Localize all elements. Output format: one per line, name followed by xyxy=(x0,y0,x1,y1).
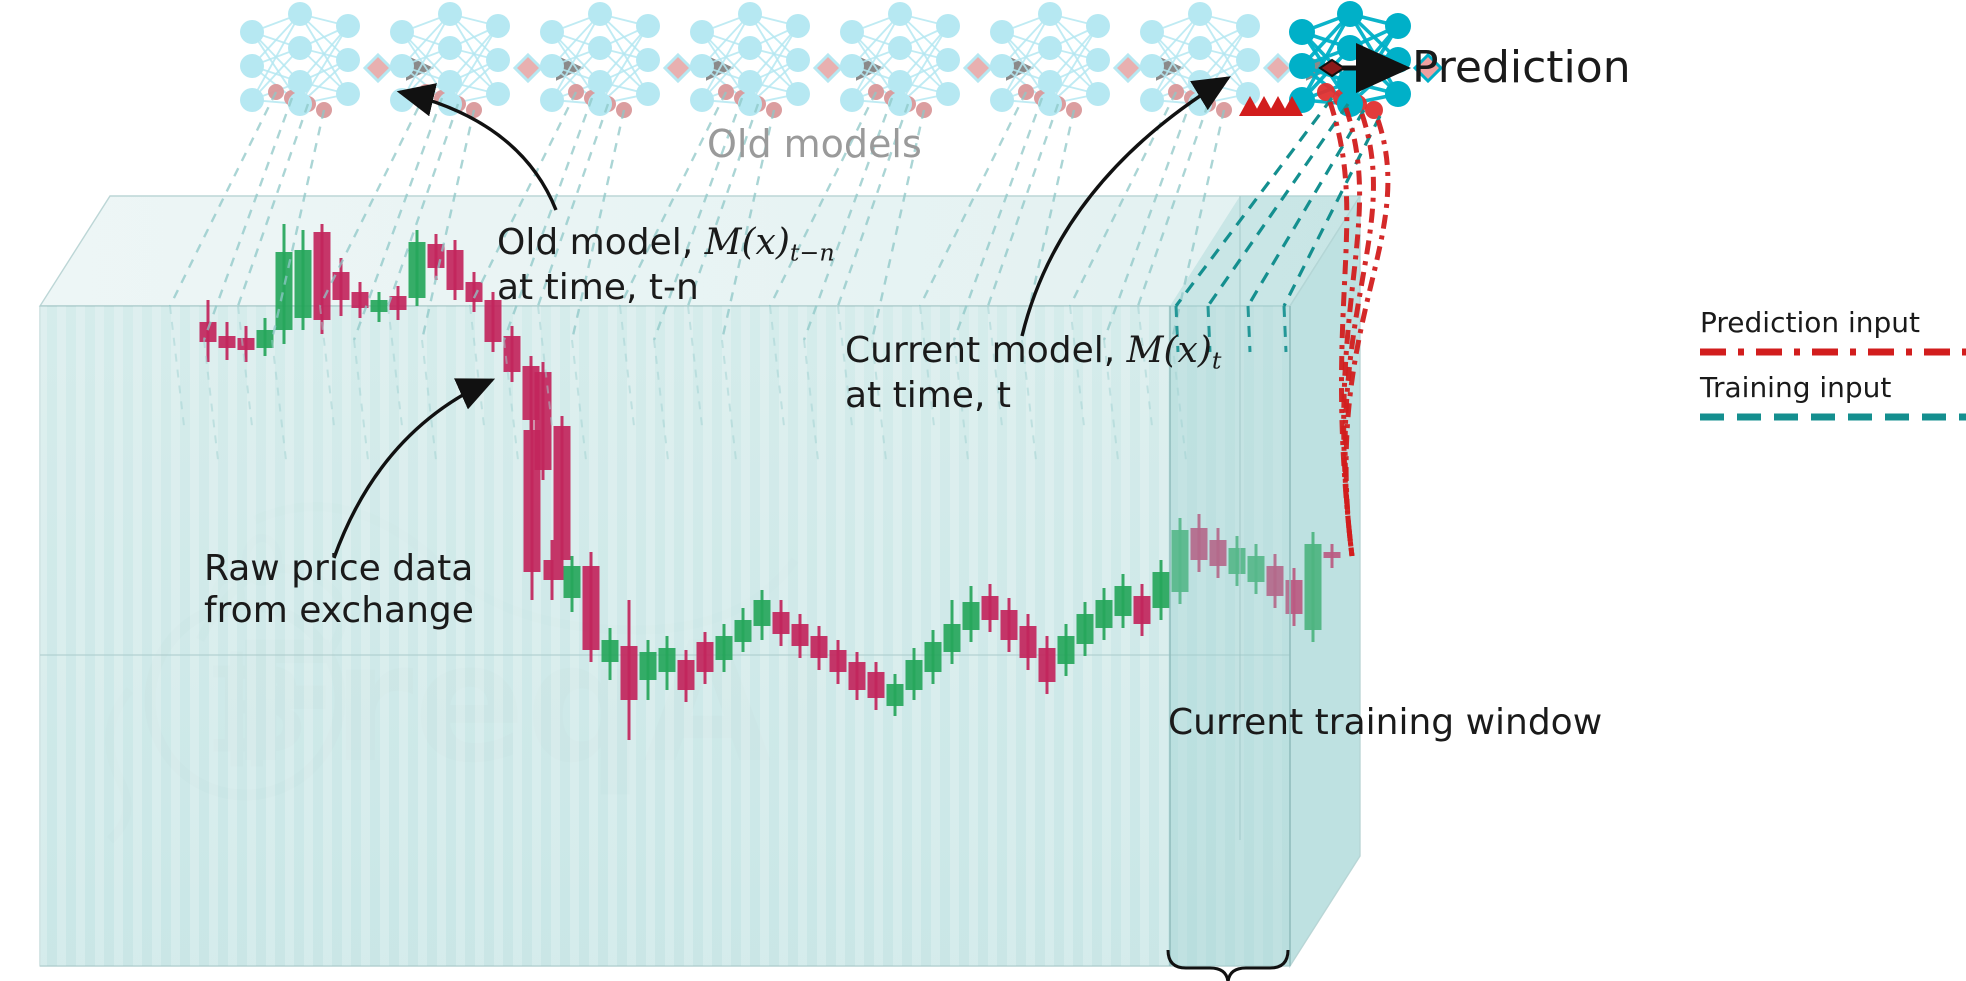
nn-node xyxy=(1038,70,1062,94)
nn-node xyxy=(1337,35,1363,61)
nn-node xyxy=(840,20,864,44)
neural-network-row xyxy=(240,1,1441,119)
nn-node xyxy=(1188,2,1212,26)
nn-node xyxy=(888,36,912,60)
annotation-current-model-line1: Current model, M(x)t xyxy=(845,330,1221,375)
nn-diamond-connector xyxy=(815,55,841,81)
nn-node xyxy=(1188,36,1212,60)
training-window-highlight xyxy=(1170,196,1360,966)
candle-body xyxy=(640,652,657,680)
nn-node xyxy=(1289,53,1315,79)
candle-body xyxy=(524,430,541,572)
candle-body xyxy=(371,300,388,312)
nn-node xyxy=(840,88,864,112)
old-models-label: Old models xyxy=(707,122,922,166)
candle-body xyxy=(659,648,676,672)
nn-node xyxy=(690,20,714,44)
legend-label-prediction-input: Prediction input xyxy=(1700,306,1920,339)
nn-node xyxy=(1038,2,1062,26)
candle-body xyxy=(1058,636,1075,664)
candle-body xyxy=(621,646,638,700)
candle-body xyxy=(849,662,866,690)
nn-node xyxy=(1289,19,1315,45)
nn-node xyxy=(540,20,564,44)
nn-node xyxy=(786,14,810,38)
nn-node xyxy=(1385,13,1411,39)
candle-body xyxy=(504,336,521,372)
annotation-old-model-prefix: Old model, xyxy=(497,222,705,263)
nn-node xyxy=(288,36,312,60)
candle-body xyxy=(602,640,619,662)
candle-body xyxy=(314,232,331,320)
candle-body xyxy=(678,660,695,690)
nn-diamond-connector xyxy=(515,55,541,81)
nn-node xyxy=(1140,20,1164,44)
nn-node xyxy=(636,82,660,106)
nn-node xyxy=(336,48,360,72)
candle-body xyxy=(868,672,885,698)
nn-node xyxy=(636,48,660,72)
candle-body xyxy=(1096,600,1113,628)
annotation-current-model-prefix: Current model, xyxy=(845,330,1127,371)
candle-body xyxy=(447,250,464,290)
nn-node xyxy=(990,54,1014,78)
annotation-current-model-math: M(x) xyxy=(1127,330,1212,371)
candle-body xyxy=(200,322,217,342)
annotation-raw-price-line2: from exchange xyxy=(204,590,474,632)
diagram-root: FreqAI ₿ xyxy=(0,0,1966,981)
nn-node xyxy=(540,88,564,112)
nn-node xyxy=(690,88,714,112)
nn-node xyxy=(588,92,612,116)
nn-node xyxy=(1140,54,1164,78)
nn-node xyxy=(1337,1,1363,27)
nn-node xyxy=(738,70,762,94)
candle-body xyxy=(257,330,274,348)
candle-body xyxy=(697,642,714,672)
candle-body xyxy=(963,602,980,630)
nn-node xyxy=(288,2,312,26)
candle-body xyxy=(564,566,581,598)
nn-node xyxy=(888,92,912,116)
annotation-old-model-line1: Old model, M(x)t−n xyxy=(497,222,835,267)
nn-node xyxy=(690,54,714,78)
annotation-old-model: Old model, M(x)t−n at time, t-n xyxy=(497,222,835,309)
nn-node xyxy=(1086,48,1110,72)
candle-body xyxy=(295,250,312,318)
nn-diamond-connector xyxy=(1115,55,1141,81)
nn-node xyxy=(1038,92,1062,116)
nn-node xyxy=(1038,36,1062,60)
candle-body xyxy=(390,296,407,310)
candle-body xyxy=(792,624,809,646)
nn-node xyxy=(738,92,762,116)
nn-node xyxy=(936,14,960,38)
candle-body xyxy=(219,336,236,348)
candle-body xyxy=(754,600,771,626)
prediction-label: Prediction xyxy=(1412,42,1631,93)
nn-diamond-connector xyxy=(665,55,691,81)
nn-diamond-connector xyxy=(1265,55,1291,81)
nn-node xyxy=(1236,14,1260,38)
candle-body xyxy=(554,426,571,560)
candle-body xyxy=(1153,572,1170,608)
candle-body xyxy=(238,338,255,350)
nn-node xyxy=(738,2,762,26)
nn-node xyxy=(486,82,510,106)
nn-node xyxy=(936,82,960,106)
nn-node xyxy=(1086,14,1110,38)
nn-node xyxy=(390,20,414,44)
nn-node xyxy=(588,2,612,26)
nn-node xyxy=(588,36,612,60)
annotation-old-model-math: M(x) xyxy=(705,222,790,263)
candle-body xyxy=(944,624,961,652)
nn-node xyxy=(390,54,414,78)
nn-node xyxy=(936,48,960,72)
nn-node xyxy=(840,54,864,78)
candle-body xyxy=(544,560,561,580)
candle-body xyxy=(773,612,790,634)
candle-body xyxy=(982,596,999,620)
nn-node xyxy=(1385,81,1411,107)
candle-body xyxy=(409,242,426,298)
nn-node xyxy=(438,36,462,60)
nn-node xyxy=(240,20,264,44)
nn-node xyxy=(240,88,264,112)
candle-body xyxy=(1077,614,1094,644)
candle-body xyxy=(583,566,600,650)
nn-diamond-connector xyxy=(365,55,391,81)
nn-node xyxy=(486,48,510,72)
nn-node xyxy=(438,70,462,94)
nn-node xyxy=(1140,88,1164,112)
candle-body xyxy=(1115,586,1132,616)
annotation-raw-price-line1: Raw price data xyxy=(204,548,474,590)
candle-body xyxy=(1039,648,1056,682)
candle-body xyxy=(1020,626,1037,658)
candle-body xyxy=(466,282,483,302)
nn-diamond-connector xyxy=(965,55,991,81)
candle-body xyxy=(925,642,942,672)
diagram-canvas: FreqAI ₿ xyxy=(0,0,1966,981)
candle-body xyxy=(906,660,923,690)
candle-body xyxy=(811,636,828,658)
nn-node xyxy=(336,14,360,38)
candle-body xyxy=(887,684,904,706)
training-window-label: Current training window xyxy=(1168,702,1602,743)
annotation-old-model-line2: at time, t-n xyxy=(497,267,835,309)
nn-node xyxy=(240,54,264,78)
nn-node xyxy=(1086,82,1110,106)
nn-node xyxy=(786,82,810,106)
annotation-old-model-subscript: t−n xyxy=(790,239,835,267)
annotation-current-model-subscript: t xyxy=(1212,347,1222,375)
nn-node xyxy=(438,2,462,26)
nn-node xyxy=(1236,48,1260,72)
nn-node xyxy=(588,70,612,94)
candle-body xyxy=(735,620,752,642)
nn-node xyxy=(636,14,660,38)
nn-node xyxy=(486,14,510,38)
nn-node xyxy=(540,54,564,78)
nn-node xyxy=(990,88,1014,112)
nn-node xyxy=(888,70,912,94)
candle-body xyxy=(716,636,733,660)
nn-node xyxy=(288,70,312,94)
annotation-current-model-line2: at time, t xyxy=(845,375,1221,417)
annotation-raw-price: Raw price data from exchange xyxy=(204,548,474,633)
nn-node xyxy=(990,20,1014,44)
nn-node xyxy=(786,48,810,72)
nn-node xyxy=(336,82,360,106)
candle-body xyxy=(830,650,847,672)
candle-body xyxy=(1001,610,1018,640)
candle-body xyxy=(1134,596,1151,624)
nn-node xyxy=(288,92,312,116)
nn-node xyxy=(738,36,762,60)
nn-node xyxy=(888,2,912,26)
legend-label-training-input: Training input xyxy=(1700,371,1891,404)
annotation-current-model: Current model, M(x)t at time, t xyxy=(845,330,1221,417)
